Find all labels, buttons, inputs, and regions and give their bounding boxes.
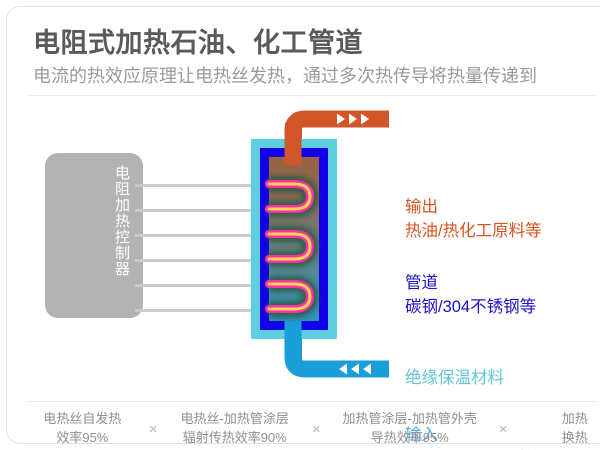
wire-5 — [135, 284, 269, 287]
label-pipe-line1: 管道 — [405, 272, 536, 296]
screenshot-root: 电阻式加热石油、化工管道 电流的热效应原理让电热丝发热，通过多次热传导将热量传递… — [0, 0, 600, 450]
wire-3 — [135, 234, 269, 237]
input-arrow-icons — [339, 364, 371, 375]
header-divider — [29, 95, 595, 96]
label-output: 输出 热油/热化工原料等 — [405, 196, 542, 244]
controller-label: 电阻加热控制器 — [107, 165, 129, 277]
content-card: 电阻式加热石油、化工管道 电流的热效应原理让电热丝发热，通过多次热传导将热量传递… — [6, 6, 600, 444]
label-insulation-line1: 绝缘保温材料 — [405, 367, 504, 391]
formula-cell-2-line2: 辐射传热效率90% — [171, 429, 299, 448]
label-pipe: 管道 碳钢/304不锈钢等 — [405, 272, 536, 320]
label-pipe-line2: 碳钢/304不锈钢等 — [405, 296, 536, 320]
page-subtitle: 电流的热效应原理让电热丝发热，通过多次热传导将热量传递到 — [33, 62, 537, 88]
formula-cell-1-line1: 电热丝自发热 — [29, 410, 136, 429]
wire-4 — [135, 259, 269, 262]
formula-cell-1-line2: 效率95% — [29, 429, 136, 448]
wire-1 — [135, 184, 263, 187]
label-output-line1: 输出 — [405, 196, 542, 220]
output-arrow-icons — [337, 114, 369, 125]
label-insulation: 绝缘保温材料 — [405, 367, 504, 391]
footer-divider — [29, 401, 595, 402]
formula-cell-3: 加热管涂层-加热管外壳 导热效率95% — [334, 410, 486, 448]
efficiency-formula-row: 电热丝自发热 效率95% × 电热丝-加热管涂层 辐射传热效率90% × 加热管… — [29, 405, 600, 450]
formula-cell-1: 电热丝自发热 效率95% — [29, 410, 136, 448]
multiply-symbol-1: × — [136, 421, 171, 438]
formula-cell-3-line1: 加热管涂层-加热管外壳 — [334, 410, 486, 429]
page-title: 电阻式加热石油、化工管道 — [33, 21, 363, 60]
multiply-symbol-3: × — [486, 421, 521, 438]
wire-2 — [135, 209, 263, 212]
formula-cell-4-line2: 换热 — [520, 429, 600, 448]
formula-cell-3-line2: 导热效率95% — [334, 429, 486, 448]
formula-cell-2-line1: 电热丝-加热管涂层 — [171, 410, 299, 429]
wire-6 — [135, 309, 269, 312]
formula-cell-2: 电热丝-加热管涂层 辐射传热效率90% — [171, 410, 299, 448]
label-output-line2: 热油/热化工原料等 — [405, 220, 542, 244]
formula-cell-4: 加热 换热 — [520, 410, 600, 448]
multiply-symbol-2: × — [299, 421, 334, 438]
formula-cell-4-line1: 加热 — [520, 410, 600, 429]
diagram-stage: 电阻加热控制器 — [7, 99, 600, 397]
fluid-core — [269, 157, 319, 321]
resistance-controller-box: 电阻加热控制器 — [45, 153, 143, 318]
